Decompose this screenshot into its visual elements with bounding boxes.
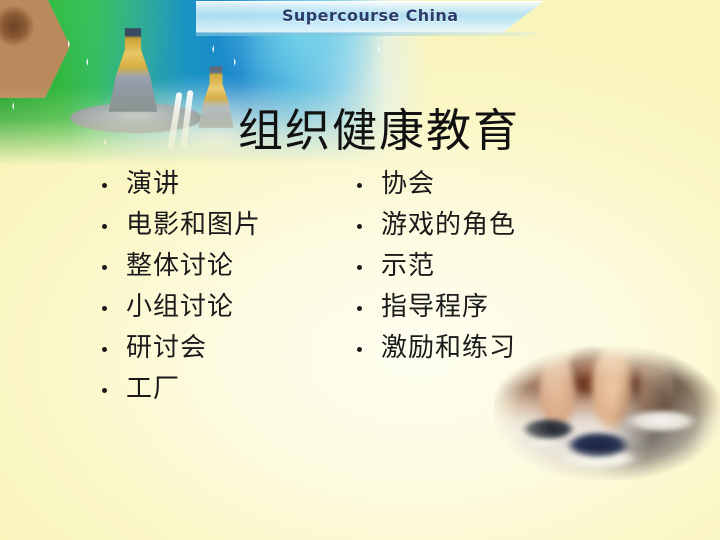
treadmill-photo — [494, 346, 720, 480]
header-banner-underline — [196, 32, 540, 36]
list-item: 游戏的角色 — [351, 207, 651, 243]
list-item: 整体讨论 — [96, 248, 351, 284]
list-item: 电影和图片 — [96, 207, 351, 243]
list-item: 研讨会 — [96, 330, 351, 366]
list-item: 工厂 — [96, 371, 351, 407]
slide-title: 组织健康教育 — [0, 108, 720, 155]
presentation-slide: Supercourse China 组织健康教育 演讲 电影和图片 整体讨论 小… — [0, 0, 720, 540]
left-bullet-column: 演讲 电影和图片 整体讨论 小组讨论 研讨会 工厂 — [96, 166, 351, 412]
list-item: 指导程序 — [351, 289, 651, 325]
list-item: 示范 — [351, 248, 651, 284]
list-item: 小组讨论 — [96, 289, 351, 325]
list-item: 协会 — [351, 166, 651, 202]
right-bullet-list: 协会 游戏的角色 示范 指导程序 激励和练习 — [351, 166, 651, 366]
banner-title-text: Supercourse China — [282, 6, 458, 25]
photo-feather-overlay — [494, 346, 720, 480]
list-item: 演讲 — [96, 166, 351, 202]
left-bullet-list: 演讲 电影和图片 整体讨论 小组讨论 研讨会 工厂 — [96, 166, 351, 407]
